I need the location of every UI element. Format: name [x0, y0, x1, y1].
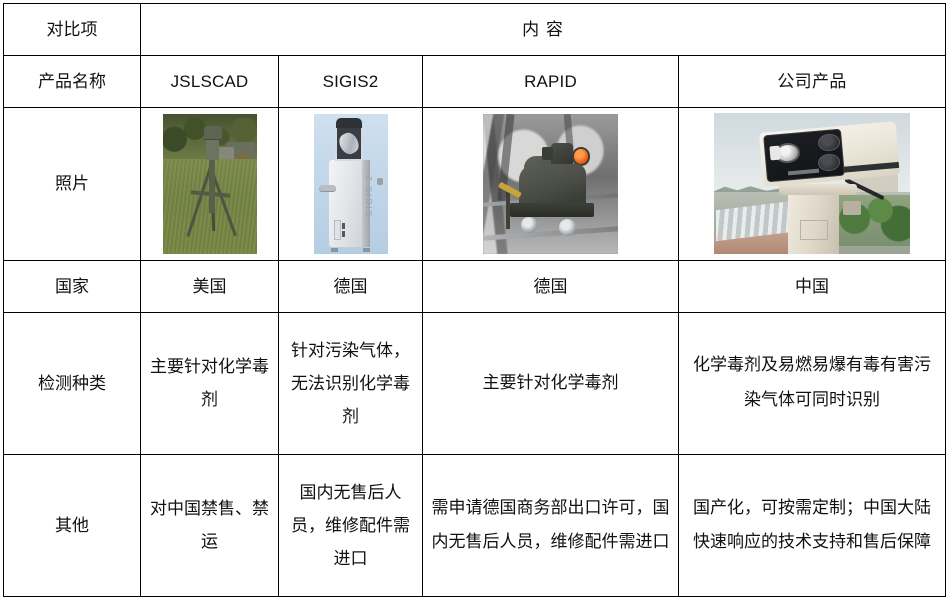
- table-row-photo: 照片: [4, 107, 946, 260]
- table-row-product-name: 产品名称 JSLSCAD SIGIS2 RAPID 公司产品: [4, 55, 946, 107]
- rowlabel-product-name: 产品名称: [4, 55, 141, 107]
- table-row-country: 国家 美国 德国 德国 中国: [4, 260, 946, 312]
- cell-photo-jslscad: [141, 107, 279, 260]
- rowlabel-photo: 照片: [4, 107, 141, 260]
- rowlabel-detection-type: 检测种类: [4, 312, 141, 454]
- cell-other-rapid: 需申请德国商务部出口许可，国内无售后人员，维修配件需进口: [423, 454, 679, 596]
- table-header-row: 对比项 内 容: [4, 4, 946, 56]
- cell-photo-company: [679, 107, 946, 260]
- product-comparison-table: 对比项 内 容 产品名称 JSLSCAD SIGIS2 RAPID 公司产品 照…: [3, 3, 946, 597]
- cell-other-sigis2: 国内无售后人员，维修配件需进口: [279, 454, 423, 596]
- jslscad-photo: [163, 114, 257, 254]
- cell-country-company: 中国: [679, 260, 946, 312]
- cell-country-jslscad: 美国: [141, 260, 279, 312]
- cell-country-sigis2: 德国: [279, 260, 423, 312]
- cell-other-jslscad: 对中国禁售、禁运: [141, 454, 279, 596]
- rowlabel-other: 其他: [4, 454, 141, 596]
- cell-detection-company: 化学毒剂及易燃易爆有毒有害污染气体可同时识别: [679, 312, 946, 454]
- cell-product-name-jslscad: JSLSCAD: [141, 55, 279, 107]
- cell-photo-rapid: [423, 107, 679, 260]
- header-content-column: 内 容: [141, 4, 946, 56]
- cell-product-name-company: 公司产品: [679, 55, 946, 107]
- cell-detection-sigis2: 针对污染气体，无法识别化学毒剂: [279, 312, 423, 454]
- header-item-column: 对比项: [4, 4, 141, 56]
- table-row-detection-type: 检测种类 主要针对化学毒剂 针对污染气体，无法识别化学毒剂 主要针对化学毒剂 化…: [4, 312, 946, 454]
- cell-product-name-sigis2: SIGIS2: [279, 55, 423, 107]
- comparison-table-page: 对比项 内 容 产品名称 JSLSCAD SIGIS2 RAPID 公司产品 照…: [0, 0, 949, 605]
- cell-photo-sigis2: SIGIS 2: [279, 107, 423, 260]
- cell-detection-rapid: 主要针对化学毒剂: [423, 312, 679, 454]
- rowlabel-country: 国家: [4, 260, 141, 312]
- company-product-photo: [714, 113, 910, 254]
- sigis2-device-label: SIGIS 2: [362, 174, 378, 216]
- sigis2-photo: SIGIS 2: [314, 114, 388, 254]
- cell-detection-jslscad: 主要针对化学毒剂: [141, 312, 279, 454]
- cell-other-company: 国产化，可按需定制；中国大陆快速响应的技术支持和售后保障: [679, 454, 946, 596]
- cell-country-rapid: 德国: [423, 260, 679, 312]
- table-row-other: 其他 对中国禁售、禁运 国内无售后人员，维修配件需进口 需申请德国商务部出口许可…: [4, 454, 946, 596]
- rapid-photo: [483, 114, 618, 254]
- cell-product-name-rapid: RAPID: [423, 55, 679, 107]
